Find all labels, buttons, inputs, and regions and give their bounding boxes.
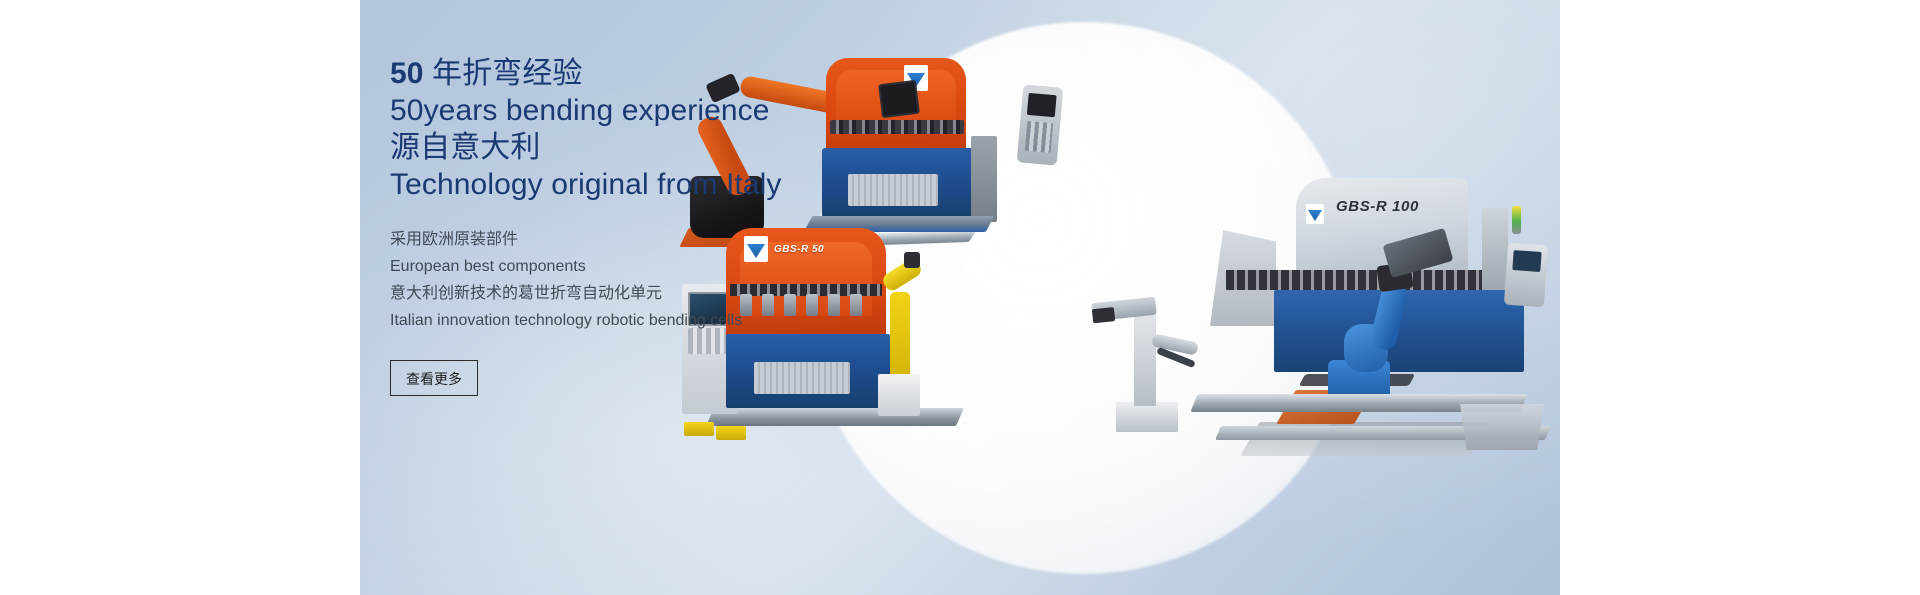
headline-line-3: 源自意大利 (390, 129, 910, 166)
headline-line-1-number: 50 (390, 57, 424, 90)
banner-subcopy: 采用欧洲原装部件 European best components 意大利创新技… (390, 226, 910, 334)
handling-unit-column (1134, 310, 1156, 406)
press-side-cabinet-upper (971, 136, 997, 222)
subcopy-line-2: European best components (390, 253, 910, 280)
view-more-button[interactable]: 查看更多 (390, 360, 478, 396)
banner-headline: 50 年折弯经验 50years bending experience 源自意大… (390, 55, 910, 203)
robotic-bending-cell-gbs-r-100: GBS-R 100 (1190, 178, 1560, 468)
floor-anchor-block (716, 426, 746, 440)
control-pendant-upper (1017, 84, 1064, 165)
handling-unit-base (1116, 402, 1178, 432)
subcopy-line-3: 意大利创新技术的葛世折弯自动化单元 (390, 280, 910, 307)
handling-unit-gripper (1092, 307, 1115, 323)
signal-beacon-icon (1512, 206, 1521, 234)
linear-track-lower-left (706, 408, 964, 426)
subcopy-line-4: Italian innovation technology robotic be… (390, 307, 910, 334)
press-tooling-beam-gbs-r-100 (1226, 270, 1496, 290)
headline-line-1-text: 年折弯经验 (424, 57, 583, 90)
banner-text-block: 50 年折弯经验 50years bending experience 源自意大… (390, 55, 910, 396)
machine-model-label-gbs-r-100: GBS-R 100 (1336, 198, 1419, 215)
subcopy-line-1: 采用欧洲原装部件 (390, 226, 910, 253)
headline-line-2: 50years bending experience (390, 92, 910, 129)
control-pendant-gbs-r-100 (1504, 243, 1548, 308)
lag-logo-icon (1306, 204, 1324, 224)
headline-line-4: Technology original from Italy (390, 166, 910, 203)
headline-line-1: 50 年折弯经验 (390, 55, 910, 92)
banner-root: GBS-R 50 (0, 0, 1920, 595)
hero-banner-panel: GBS-R 50 (360, 0, 1560, 595)
support-stand (1460, 404, 1544, 450)
floor-anchor-block (684, 422, 714, 436)
